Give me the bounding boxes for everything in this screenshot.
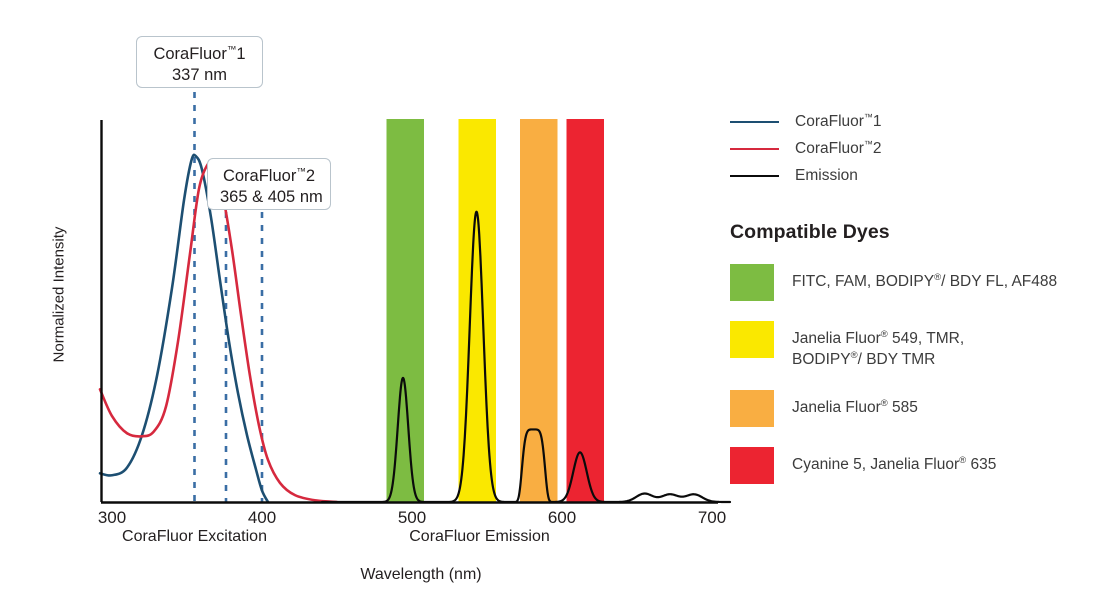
callout-corafluor-1: CoraFluor™1 337 nm (136, 36, 263, 88)
dye-label-line-1: Janelia Fluor® 549, TMR, (792, 328, 964, 349)
dye-legend-label: Janelia Fluor® 585 (792, 390, 918, 418)
legend-row-corafluor1: CoraFluor™1 (730, 108, 1100, 135)
dye-label-line-1: Janelia Fluor® 585 (792, 397, 918, 418)
dye-band-2 (520, 119, 558, 502)
dye-legend-row-2: Janelia Fluor® 585 (730, 390, 1100, 427)
trademark-icon: ™ (296, 167, 306, 178)
callout-corafluor-2: CoraFluor™2 365 & 405 nm (207, 158, 331, 210)
dye-label-line-2: BODIPY®/ BDY TMR (792, 349, 964, 370)
dye-legend-row-1: Janelia Fluor® 549, TMR,BODIPY®/ BDY TMR (730, 321, 1100, 370)
compatible-dyes-list: FITC, FAM, BODIPY®/ BDY FL, AF488Janelia… (730, 264, 1100, 484)
region-label-emission: CoraFluor Emission (380, 528, 580, 546)
callout-cf2-title: CoraFluor™2 (220, 166, 318, 187)
legend-panel: CoraFluor™1CoraFluor™2Emission Compatibl… (730, 108, 1100, 484)
trademark-icon: ™ (227, 45, 237, 56)
dye-band-0 (387, 119, 425, 502)
y-axis-label: Normalized Intensity (51, 200, 68, 390)
dye-color-swatch (730, 321, 774, 358)
trademark-icon: ™ (864, 112, 873, 122)
callout-cf1-value: 337 nm (149, 65, 250, 86)
region-label-excitation: CoraFluor Excitation (95, 528, 295, 546)
excitation-marker-group (195, 92, 263, 502)
callout-cf2-value: 365 & 405 nm (220, 187, 318, 208)
registered-icon: ® (881, 398, 888, 409)
dye-color-swatch (730, 390, 774, 427)
legend-series-label: CoraFluor™2 (795, 139, 882, 158)
dye-label-line-1: FITC, FAM, BODIPY®/ BDY FL, AF488 (792, 271, 1057, 292)
legend-row-emission: Emission (730, 162, 1100, 189)
x-tick-600: 600 (532, 508, 592, 528)
dye-color-swatch (730, 447, 774, 484)
legend-line-swatch (730, 148, 779, 150)
dye-band-3 (567, 119, 605, 502)
x-axis-label: Wavelength (nm) (266, 566, 576, 584)
legend-series-label: Emission (795, 167, 858, 185)
registered-icon: ® (851, 350, 858, 361)
trademark-icon: ™ (864, 139, 873, 149)
x-tick-400: 400 (232, 508, 292, 528)
legend-row-corafluor2: CoraFluor™2 (730, 135, 1100, 162)
dye-label-line-1: Cyanine 5, Janelia Fluor® 635 (792, 454, 996, 475)
callout-cf1-title: CoraFluor™1 (149, 44, 250, 65)
legend-line-swatch (730, 175, 779, 177)
legend-series-label: CoraFluor™1 (795, 112, 882, 131)
dye-legend-label: Janelia Fluor® 549, TMR,BODIPY®/ BDY TMR (792, 321, 964, 370)
legend-line-swatch (730, 121, 779, 123)
dye-legend-label: Cyanine 5, Janelia Fluor® 635 (792, 447, 996, 475)
x-tick-300: 300 (82, 508, 142, 528)
legend-series-list: CoraFluor™1CoraFluor™2Emission (730, 108, 1100, 189)
x-tick-500: 500 (382, 508, 442, 528)
registered-icon: ® (881, 329, 888, 340)
x-tick-700: 700 (682, 508, 742, 528)
dye-band-group (387, 119, 605, 502)
dye-legend-row-0: FITC, FAM, BODIPY®/ BDY FL, AF488 (730, 264, 1100, 301)
dye-legend-label: FITC, FAM, BODIPY®/ BDY FL, AF488 (792, 264, 1057, 292)
compatible-dyes-heading: Compatible Dyes (730, 221, 1100, 244)
dye-legend-row-3: Cyanine 5, Janelia Fluor® 635 (730, 447, 1100, 484)
dye-color-swatch (730, 264, 774, 301)
